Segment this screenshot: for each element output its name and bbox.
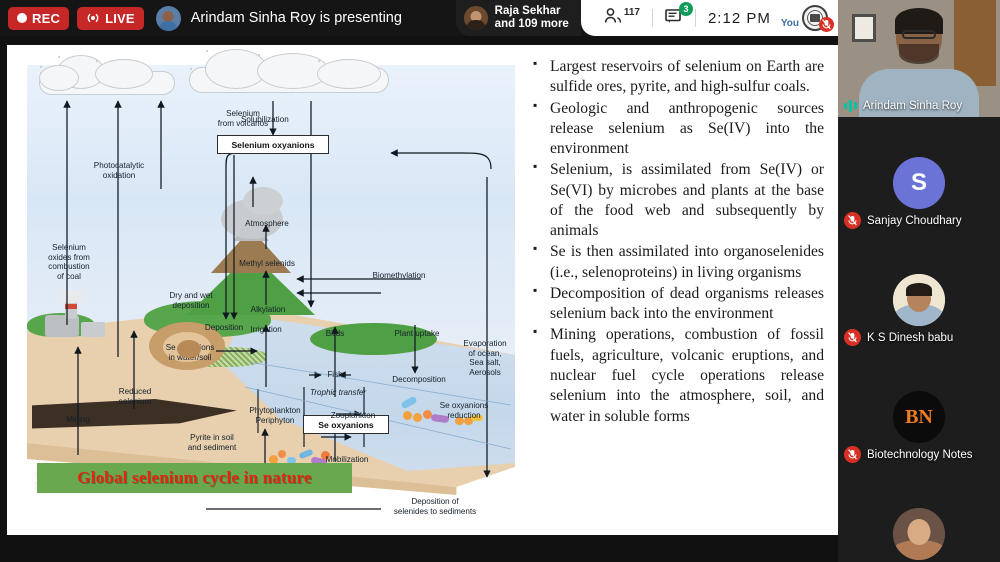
selenium-oxyanions-box: Selenium oxyanions [217, 135, 329, 154]
fig-label-irrigation: Irrigation [237, 325, 295, 335]
fig-label-decomposition: Decomposition [381, 375, 457, 385]
toolbar-divider-1 [652, 9, 653, 27]
fig-label-plant-uptake: Plant uptake [383, 329, 451, 339]
mic-off-icon[interactable] [819, 17, 834, 32]
live-indicator[interactable]: LIVE [77, 7, 144, 30]
toolbar-right-cluster: Raja Sekhar and 109 more 117 [456, 0, 838, 36]
top-toolbar: REC LIVE Arindam Sinha Roy is presenting… [0, 0, 838, 36]
bullet-list: Largest reservoirs of selenium on Earth … [533, 57, 824, 427]
figure-title: Global selenium cycle in nature [77, 468, 311, 488]
participant-tile[interactable]: Arindam Sinha Roy [838, 0, 1000, 117]
fig-label-fish: Fish [317, 370, 353, 380]
fig-label-biomethylation: Biomethylation [357, 271, 441, 281]
toolbar-divider-2 [695, 9, 696, 27]
bullet-item: Mining operations, combustion of fossil … [533, 325, 824, 426]
fig-label-evaporation: Evaporation of ocean, Sea salt, Aerosols [455, 339, 515, 377]
presenter-avatar [156, 6, 181, 31]
bullet-item: Se is then assimilated into organoseleni… [533, 242, 824, 283]
participants-button[interactable]: 117 [595, 0, 650, 36]
bullet-item: Largest reservoirs of selenium on Earth … [533, 57, 824, 98]
fig-label-phytoplankton-periphyton: Phytoplankton Periphyton [239, 406, 311, 425]
participant-name: K S Dinesh babu [867, 332, 953, 344]
participant-name-row: K S Dinesh babu [844, 329, 953, 346]
rec-label: REC [32, 11, 60, 26]
people-icon [604, 7, 624, 30]
participant-name: Biotechnology Notes [867, 449, 972, 461]
live-label: LIVE [105, 11, 135, 26]
active-speaker-chip[interactable]: Raja Sekhar and 109 more [456, 0, 581, 36]
fig-label-zooplankton: Zooplankton [321, 411, 385, 421]
chat-button[interactable]: 3 [655, 0, 693, 36]
speaker-name: Raja Sekhar [495, 5, 569, 18]
participant-name-row: Sanjay Choudhary [844, 212, 962, 229]
chat-unread-badge: 3 [679, 2, 693, 16]
fig-label-photocatalytic-oxidation: Photocatalytic oxidation [73, 161, 165, 180]
record-dot-icon [17, 13, 27, 23]
participant-name-row: Biotechnology Notes [844, 446, 972, 463]
participant-name: Sanjay Choudhary [867, 215, 962, 227]
participant-name-row: Arindam Sinha Roy [844, 99, 962, 112]
participants-count: 117 [624, 7, 640, 18]
participant-tile[interactable]: Rashmi Chandra [838, 468, 1000, 562]
fig-label-solubilization: Solubilization [241, 115, 321, 125]
fig-label-deposition-selenides: Deposition of selenides to sediments [377, 497, 493, 516]
fig-label-pyrite-soil-sediment: Pyrite in soil and sediment [171, 433, 253, 452]
mic-off-icon [844, 329, 861, 346]
recording-indicator[interactable]: REC [8, 7, 69, 30]
speaker-more-count: and 109 more [495, 18, 569, 31]
participant-name: Arindam Sinha Roy [863, 100, 962, 112]
avatar-initials: BN [905, 406, 933, 429]
presenting-status: Arindam Sinha Roy is presenting [191, 10, 402, 26]
mic-off-icon [844, 212, 861, 229]
broadcast-icon [86, 12, 100, 24]
bullet-item: Decomposition of dead organisms releases… [533, 284, 824, 325]
avatar [893, 508, 945, 560]
meeting-window: REC LIVE Arindam Sinha Roy is presenting… [0, 0, 1000, 562]
speaker-avatar [464, 6, 488, 30]
fig-label-selenium-oxides-coal: Selenium oxides from combustion of coal [24, 243, 114, 281]
audio-wave-icon [844, 99, 857, 112]
clock: 2:12 PM [698, 10, 779, 27]
fig-label-birds: Birds [315, 329, 355, 339]
participant-tile[interactable]: BN Biotechnology Notes [838, 351, 1000, 468]
slide-bullet-panel: Largest reservoirs of selenium on Earth … [527, 45, 838, 535]
participant-tile[interactable]: S Sanjay Choudhary [838, 117, 1000, 234]
you-label: You [781, 18, 799, 29]
avatar-initials: S [911, 169, 927, 197]
fig-label-reduced-selenium: Reduced selenium [101, 387, 169, 406]
participant-tile[interactable]: K S Dinesh babu [838, 234, 1000, 351]
fig-label-atmosphere: Atmosphere [229, 219, 305, 229]
mic-off-icon [844, 446, 861, 463]
fig-label-alkylation: Alkylation [237, 305, 299, 315]
selenium-cycle-figure: Selenium oxyanions Se oxyanions Selenium… [7, 45, 527, 535]
avatar: S [893, 157, 945, 209]
fig-label-se-oxyanions-reduction: Se oxyanions reduction [425, 401, 503, 420]
participant-sidebar[interactable]: Arindam Sinha Roy S Sanjay Choudhary [838, 0, 1000, 562]
toolbar-actions: 117 3 2:12 PM You [581, 0, 838, 36]
avatar: BN [893, 391, 945, 443]
shared-slide[interactable]: Selenium oxyanions Se oxyanions Selenium… [7, 45, 838, 535]
avatar [893, 274, 945, 326]
fig-label-trophic-transfer: Trophic transfer [299, 388, 377, 398]
self-avatar-group[interactable]: You [781, 5, 832, 31]
bullet-item: Geologic and anthropogenic sources relea… [533, 99, 824, 160]
fig-label-dry-wet-deposition: Dry and wet deposition [153, 291, 229, 310]
figure-title-banner: Global selenium cycle in nature [37, 463, 352, 493]
bullet-item: Selenium, is assimilated from Se(IV) or … [533, 160, 824, 241]
presentation-stage: Selenium oxyanions Se oxyanions Selenium… [0, 36, 838, 562]
fig-label-methyl-selenids: Methyl selenids [222, 259, 312, 269]
fig-label-mining: Mining [49, 415, 107, 425]
